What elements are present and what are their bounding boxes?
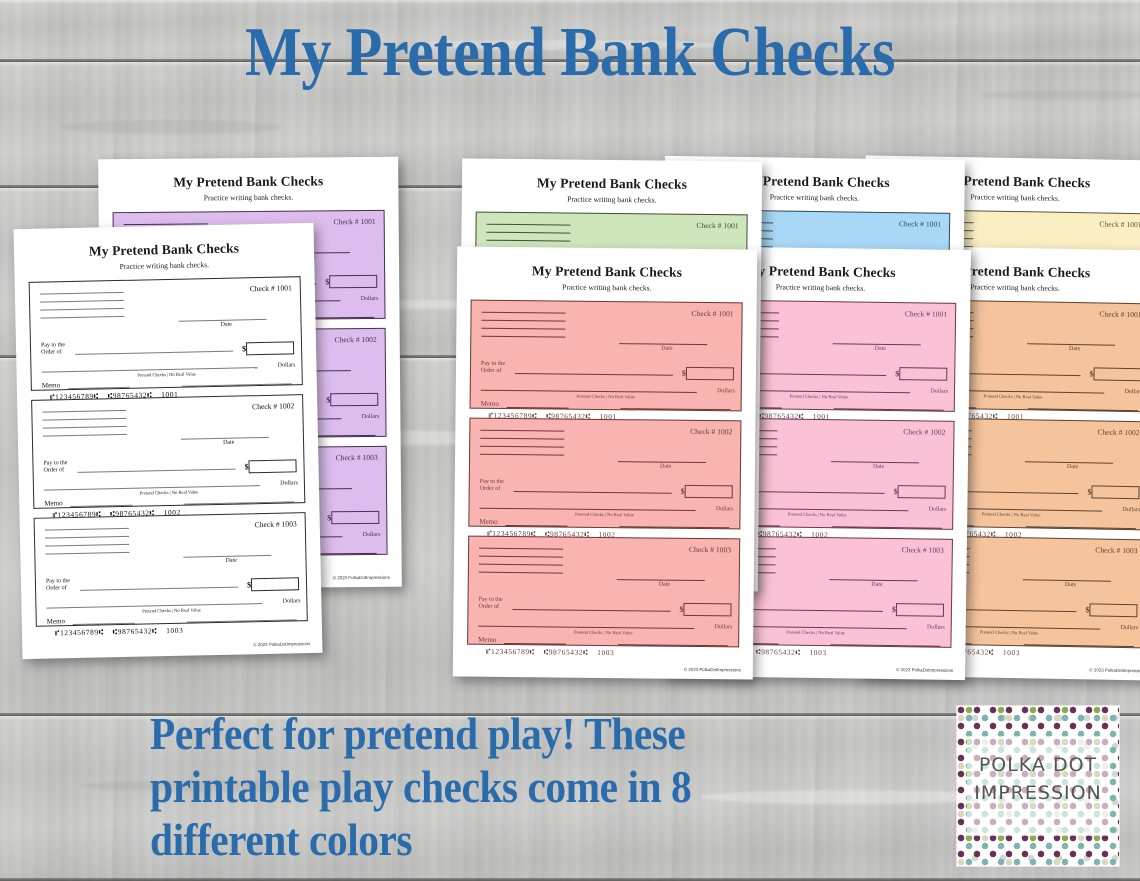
memo-label: Memo (42, 381, 60, 389)
memo-label: Memo (478, 636, 496, 644)
memo-label: Memo (44, 499, 62, 507)
check-form[interactable]: Check # 1002DatePay to theOrder of$Dolla… (468, 418, 741, 530)
memo-label: Memo (47, 617, 65, 625)
order-of-line: Order of (478, 604, 502, 611)
polka-dot-impression-logo: POLKA DOT IMPRESSION (957, 706, 1119, 866)
payee-write-line[interactable] (512, 609, 670, 612)
check-sheet-white[interactable]: My Pretend Bank ChecksPractice writing b… (14, 223, 323, 659)
check-sheet-salmon[interactable]: My Pretend Bank ChecksPractice writing b… (453, 246, 757, 679)
micr-account: ⑆98765432⑆ (544, 647, 589, 656)
check-form[interactable]: Check # 1001DatePay to theOrder of$Dolla… (29, 276, 303, 391)
pay-to-the-order-of-label: Pay to theOrder of (480, 479, 504, 494)
check-number-label: Check # 1003 (902, 545, 944, 555)
date-label: Date (1065, 582, 1076, 588)
micr-line: ⑈123456789⑆⑆98765432⑆1003 (486, 647, 623, 657)
dollars-label: Dollars (1122, 507, 1140, 513)
check-number-label: Check # 1002 (1097, 427, 1139, 437)
memo-write-line[interactable] (507, 407, 569, 409)
order-of-line: Order of (46, 585, 70, 593)
order-of-line: Order of (44, 467, 68, 475)
date-label: Date (660, 464, 671, 470)
order-of-line: Order of (480, 486, 504, 493)
check-number-label: Check # 1002 (903, 427, 945, 437)
copyright-notice: © 2023 PolkaDotImpressions (684, 667, 741, 673)
check-number-label: Check # 1001 (696, 221, 738, 230)
date-label: Date (875, 346, 886, 352)
check-number-label: Check # 1001 (691, 309, 733, 318)
amount-box[interactable] (246, 341, 294, 355)
dollars-label: Dollars (715, 624, 733, 630)
sheet-content: My Pretend Bank ChecksPractice writing b… (453, 246, 757, 679)
memo-write-line[interactable] (70, 505, 132, 507)
signature-write-line[interactable] (1028, 408, 1138, 411)
check-number-label: Check # 1002 (690, 427, 732, 436)
amount-box[interactable] (683, 603, 731, 617)
wood-grain (60, 120, 280, 134)
memo-label: Memo (481, 400, 499, 408)
amount-box[interactable] (685, 485, 733, 499)
dollars-label: Dollars (1125, 389, 1140, 395)
dollars-label: Dollars (717, 388, 735, 394)
micr-routing: ⑈123456789⑆ (55, 627, 104, 637)
page-title: My Pretend Bank Checks (80, 14, 1060, 92)
dollars-label: Dollars (283, 598, 301, 604)
micr-serial: 1003 (1003, 648, 1020, 657)
sheet-content: My Pretend Bank ChecksPractice writing b… (14, 223, 323, 659)
amount-box[interactable] (898, 485, 946, 499)
check-form[interactable]: Check # 1002DatePay to theOrder of$Dolla… (31, 394, 305, 509)
check-number-label: Check # 1003 (336, 453, 378, 462)
copyright-notice: © 2023 PolkaDotImpressions (333, 575, 390, 580)
dollars-label: Dollars (278, 362, 296, 368)
amount-box[interactable] (899, 367, 947, 381)
date-label: Date (223, 440, 234, 446)
sheet-title: My Pretend Bank Checks (476, 175, 748, 194)
memo-write-line[interactable] (504, 643, 566, 645)
pay-to-the-order-of-label: Pay to theOrder of (43, 460, 67, 475)
check-number-label: Check # 1002 (334, 335, 376, 344)
order-of-line: Order of (41, 349, 65, 357)
amount-box[interactable] (248, 459, 296, 473)
sheet-subtitle: Practice writing bank checks. (112, 192, 384, 203)
pay-to-the-order-of-label: Pay to theOrder of (46, 578, 70, 593)
date-label: Date (661, 346, 672, 352)
sheet-title: My Pretend Bank Checks (112, 173, 384, 191)
dollars-label: Dollars (363, 532, 381, 538)
check-form[interactable]: Check # 1003DatePay to theOrder of$Dolla… (467, 536, 740, 648)
dollars-label: Dollars (280, 480, 298, 486)
dollars-label: Dollars (930, 389, 948, 395)
no-real-value-disclaimer: Pretend Checks | No Real Value (469, 511, 739, 519)
signature-write-line[interactable] (184, 501, 294, 504)
micr-routing: ⑈123456789⑆ (486, 647, 535, 657)
dollars-label: Dollars (1120, 625, 1138, 631)
check-number-label: Check # 1002 (252, 401, 294, 411)
dollars-label: Dollars (361, 296, 379, 302)
check-number-label: Check # 1001 (333, 217, 375, 226)
payee-write-line[interactable] (75, 351, 233, 355)
payee-write-line[interactable] (78, 469, 236, 473)
order-of-line: Order of (481, 368, 505, 375)
signature-write-line[interactable] (834, 408, 944, 411)
dollars-label: Dollars (927, 625, 945, 631)
check-number-label: Check # 1003 (689, 545, 731, 554)
date-label: Date (1069, 346, 1080, 352)
signature-write-line[interactable] (619, 526, 729, 528)
signature-write-line[interactable] (618, 644, 728, 646)
date-label: Date (871, 582, 882, 588)
date-label: Date (1067, 464, 1078, 470)
logo-line-2: IMPRESSION (957, 782, 1119, 804)
dollars-label: Dollars (362, 414, 380, 420)
micr-serial: 1003 (166, 626, 183, 635)
amount-box[interactable] (1091, 485, 1139, 499)
account-holder-address-lines[interactable] (481, 312, 565, 345)
dollars-label: Dollars (716, 506, 734, 512)
micr-serial: 1003 (809, 648, 826, 657)
account-holder-address-lines[interactable] (479, 548, 563, 581)
sheet-title: My Pretend Bank Checks (471, 263, 743, 282)
copyright-notice: © 2023 PolkaDotImpressions (1089, 667, 1140, 673)
memo-write-line[interactable] (68, 387, 130, 389)
amount-box[interactable] (329, 275, 377, 288)
check-number-label: Check # 1001 (905, 309, 947, 319)
no-real-value-disclaimer: Pretend Checks | No Real Value (468, 629, 738, 637)
pay-to-the-order-of-label: Pay to theOrder of (481, 361, 505, 376)
account-holder-address-lines[interactable] (45, 528, 130, 562)
signature-write-line[interactable] (832, 526, 942, 529)
check-number-label: Check # 1001 (1099, 220, 1140, 230)
payee-write-line[interactable] (515, 373, 673, 376)
date-label: Date (659, 582, 670, 588)
memo-write-line[interactable] (73, 623, 135, 625)
memo-write-line[interactable] (505, 525, 567, 527)
check-number-label: Check # 1003 (1095, 545, 1137, 555)
micr-account: ⑆98765432⑆ (756, 647, 801, 657)
signature-write-line[interactable] (621, 408, 731, 410)
check-number-label: Check # 1001 (899, 219, 941, 229)
amount-box[interactable] (330, 393, 378, 406)
signature-write-line[interactable] (1024, 644, 1134, 647)
sheet-subtitle: Practice writing bank checks. (28, 258, 300, 273)
checks-list: Check # 1001DatePay to theOrder of$Dolla… (29, 276, 308, 627)
date-label: Date (221, 322, 232, 328)
checks-list: Check # 1001DatePay to theOrder of$Dolla… (467, 300, 743, 648)
account-holder-address-lines[interactable] (40, 292, 125, 326)
sheet-title: My Pretend Bank Checks (28, 239, 300, 261)
signature-write-line[interactable] (830, 644, 940, 647)
signature-write-line[interactable] (1026, 526, 1136, 529)
pay-to-the-order-of-label: Pay to theOrder of (478, 597, 502, 612)
tagline: Perfect for pretend play! These printabl… (150, 708, 785, 867)
no-real-value-disclaimer: Pretend Checks | No Real Value (471, 393, 741, 401)
date-label: Date (873, 464, 884, 470)
amount-box[interactable] (686, 367, 734, 381)
amount-box[interactable] (1093, 367, 1140, 381)
memo-label: Memo (479, 518, 497, 526)
payee-write-line[interactable] (80, 587, 238, 591)
sheet-subtitle: Practice writing bank checks. (476, 194, 748, 206)
signature-write-line[interactable] (182, 383, 292, 386)
check-number-label: Check # 1003 (254, 519, 296, 529)
copyright-notice: © 2023 PolkaDotImpressions (253, 641, 310, 647)
account-holder-address-lines[interactable] (42, 410, 127, 444)
logo-line-1: POLKA DOT (957, 754, 1119, 776)
account-holder-address-lines[interactable] (480, 430, 564, 463)
micr-serial: 1003 (597, 648, 614, 657)
micr-account: ⑆98765432⑆ (113, 626, 158, 636)
check-form[interactable]: Check # 1001DatePay to theOrder of$Dolla… (470, 300, 743, 412)
sheet-subtitle: Practice writing bank checks. (471, 282, 743, 294)
copyright-notice: © 2023 PolkaDotImpressions (896, 667, 953, 673)
pay-to-the-order-of-label: Pay to theOrder of (41, 342, 65, 357)
amount-box[interactable] (331, 511, 379, 524)
amount-box[interactable] (251, 577, 299, 591)
check-form[interactable]: Check # 1003DatePay to theOrder of$Dolla… (34, 512, 308, 627)
dollars-label: Dollars (929, 507, 947, 513)
check-number-label: Check # 1001 (1099, 310, 1140, 320)
micr-line: ⑈123456789⑆⑆98765432⑆1003 (55, 626, 193, 638)
signature-write-line[interactable] (187, 619, 297, 622)
payee-write-line[interactable] (514, 491, 672, 494)
amount-box[interactable] (896, 603, 944, 617)
date-label: Date (225, 558, 236, 564)
check-number-label: Check # 1001 (250, 283, 292, 293)
amount-box[interactable] (1089, 603, 1137, 617)
